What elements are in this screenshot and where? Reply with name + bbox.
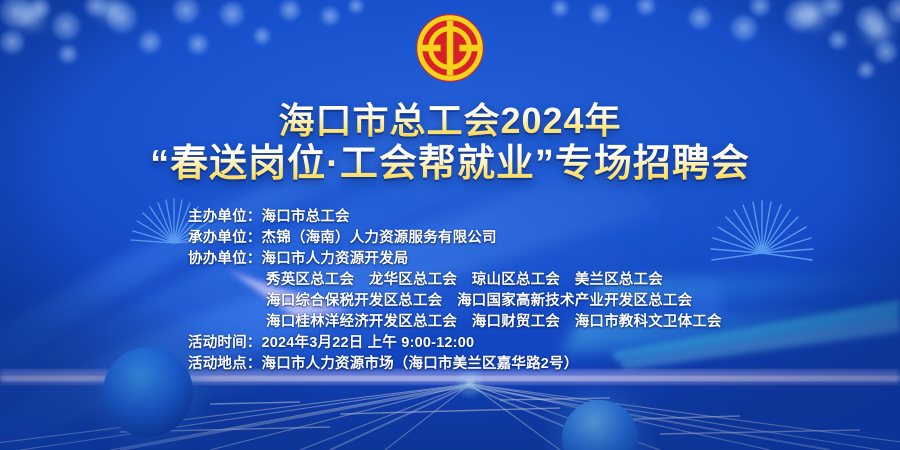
union-emblem-icon — [414, 12, 486, 84]
title-line-2: “春送岗位·工会帮就业”专场招聘会 — [0, 142, 900, 186]
coorganizer-row: 协办单位： 海口市人力资源开发局 — [188, 249, 788, 270]
title-line-1: 海口市总工会2024年 — [0, 100, 900, 142]
event-time-value: 2024年3月22日 上午 9:00-12:00 — [262, 333, 475, 354]
event-time-label: 活动时间： — [188, 333, 262, 354]
event-time-row: 活动时间： 2024年3月22日 上午 9:00-12:00 — [188, 333, 788, 354]
bokeh-bright-right — [794, 0, 894, 46]
coorganizer-list-3: 海口桂林洋经济开发区总工会 海口财贸工会 海口市教科文卫体工会 — [188, 312, 788, 333]
organizer-row: 主办单位： 海口市总工会 — [188, 207, 788, 228]
recruitment-poster: 海口市总工会2024年 “春送岗位·工会帮就业”专场招聘会 主办单位： 海口市总… — [0, 0, 900, 450]
coorganizer-label: 协办单位： — [188, 249, 262, 270]
undertaker-row: 承办单位： 杰锦（海南）人力资源服务有限公司 — [188, 228, 788, 249]
poster-title: 海口市总工会2024年 “春送岗位·工会帮就业”专场招聘会 — [0, 100, 900, 186]
event-place-row: 活动地点： 海口市人力资源市场（海口市美兰区嘉华路2号） — [188, 354, 788, 375]
coorganizer-value: 海口市人力资源开发局 — [262, 249, 409, 270]
glow-sphere-left — [96, 340, 200, 444]
organizer-value: 海口市总工会 — [262, 207, 350, 228]
event-info-block: 主办单位： 海口市总工会 承办单位： 杰锦（海南）人力资源服务有限公司 协办单位… — [188, 207, 788, 375]
acftu-union-emblem — [414, 12, 486, 84]
bokeh-group-right — [551, 0, 900, 79]
perspective-speed-lines — [0, 372, 900, 450]
coorganizer-list-1: 秀英区总工会 龙华区总工会 琼山区总工会 美兰区总工会 — [188, 270, 788, 291]
coorganizer-list-2: 海口综合保税开发区总工会 海口国家高新技术产业开发区总工会 — [188, 291, 788, 312]
bokeh-group-left — [0, 0, 364, 64]
undertaker-value: 杰锦（海南）人力资源服务有限公司 — [262, 228, 497, 249]
organizer-label: 主办单位： — [188, 207, 262, 228]
undertaker-label: 承办单位： — [188, 228, 262, 249]
bokeh-bright-left — [14, 0, 126, 32]
event-place-label: 活动地点： — [188, 354, 262, 375]
event-place-value: 海口市人力资源市场（海口市美兰区嘉华路2号） — [262, 354, 579, 375]
glow-sphere-right — [554, 392, 646, 450]
